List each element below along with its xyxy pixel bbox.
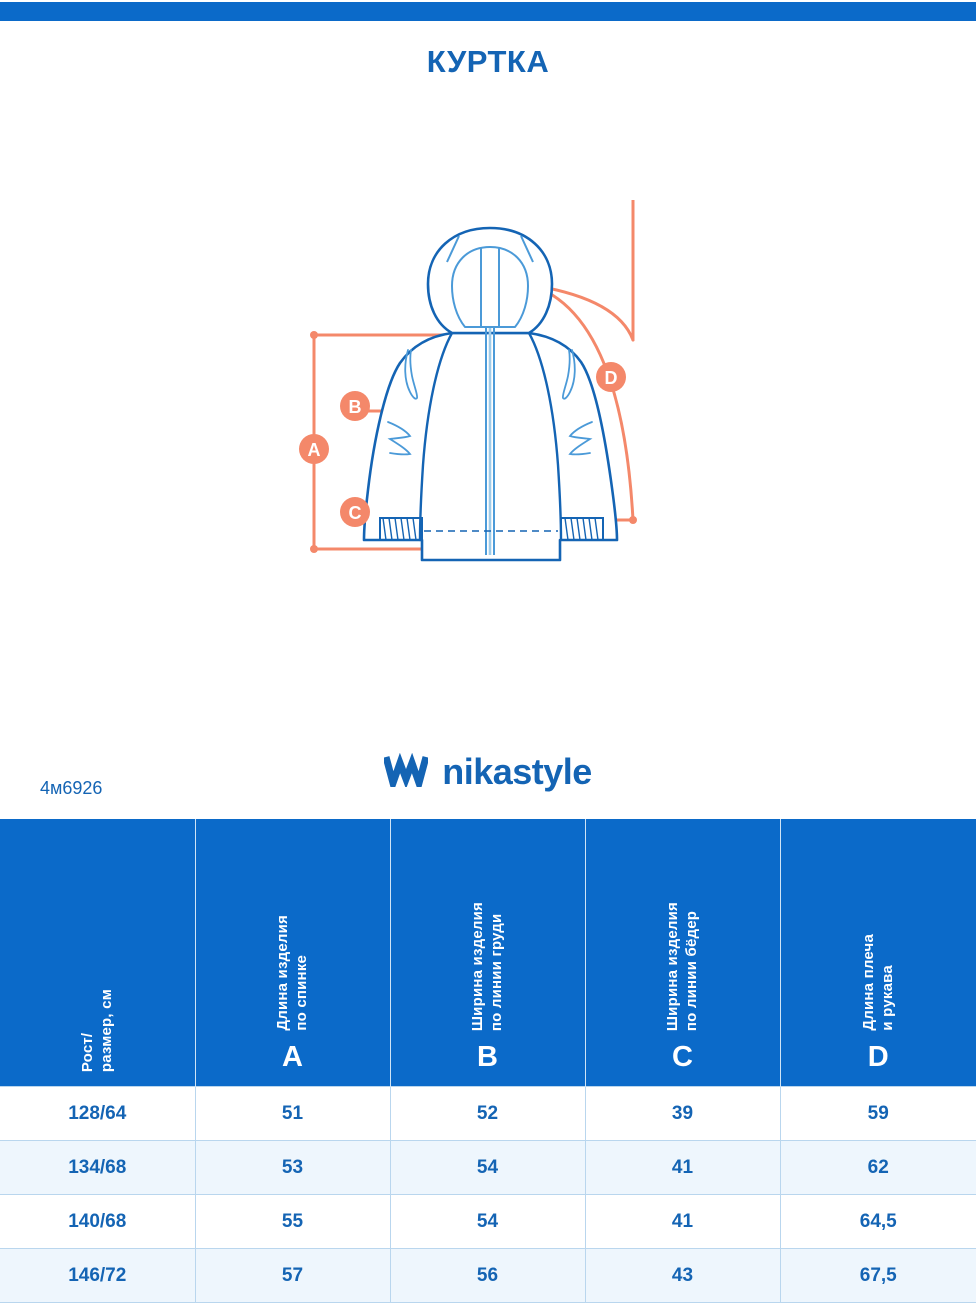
column-header-letter: C [672,1043,693,1072]
cell-size: 128/64 [0,1087,195,1141]
cell-sleeve: 59 [780,1087,976,1141]
cell-chest: 54 [390,1141,585,1195]
column-header-label: Длина изделия по спинке [274,915,312,1031]
marker-c-label: C [349,503,362,523]
marker-b: B [340,391,370,421]
column-header-length-back: Длина изделия по спинке A [195,819,390,1087]
cell-length: 55 [195,1195,390,1249]
brand-row: nikastyle [0,748,976,804]
table-row: 134/68 53 54 41 62 [0,1141,976,1195]
cell-sleeve: 67,5 [780,1249,976,1303]
column-header-hip-width: Ширина изделия по линии бёдер C [585,819,780,1087]
size-table: Рост/ размер, см Длина изделия по спинке… [0,819,976,1303]
cell-length: 51 [195,1087,390,1141]
table-row: 140/68 55 54 41 64,5 [0,1195,976,1249]
cell-chest: 56 [390,1249,585,1303]
endpoint-a-bottom [310,545,318,553]
table-header-row: Рост/ размер, см Длина изделия по спинке… [0,819,976,1087]
column-header-label: Длина плеча и рукава [860,934,898,1031]
table-row: 128/64 51 52 39 59 [0,1087,976,1141]
cell-hip: 39 [585,1087,780,1141]
brand-name: nikastyle [442,754,592,790]
column-header-letter: B [477,1043,498,1072]
cell-hip: 43 [585,1249,780,1303]
column-header-chest-width: Ширина изделия по линии груди B [390,819,585,1087]
article-number: 4м6926 [40,778,102,799]
endpoint-a-top [310,331,318,339]
jacket-hood [428,228,552,333]
column-header-label: Ширина изделия по линии груди [469,902,507,1031]
hood-outer [428,228,552,333]
endpoint-d-bottom [629,516,637,524]
column-header-label: Ширина изделия по линии бёдер [664,902,702,1031]
cell-hip: 41 [585,1141,780,1195]
cell-length: 53 [195,1141,390,1195]
cell-hip: 41 [585,1195,780,1249]
cell-sleeve: 64,5 [780,1195,976,1249]
column-header-letter: A [282,1043,303,1072]
page-title: КУРТКА [0,44,976,80]
wave-mark-icon [384,753,428,792]
column-header-size: Рост/ размер, см [0,819,195,1087]
marker-d: D [596,362,626,392]
brand-logo: nikastyle [0,748,976,796]
marker-a-label: A [308,440,321,460]
cell-size: 134/68 [0,1141,195,1195]
column-header-sleeve-length: Длина плеча и рукава D [780,819,976,1087]
header-bar [0,2,976,21]
table-row: 146/72 57 56 43 67,5 [0,1249,976,1303]
cell-chest: 54 [390,1195,585,1249]
cell-sleeve: 62 [780,1141,976,1195]
column-header-label: Рост/ размер, см [79,989,117,1072]
column-header-letter: D [868,1043,889,1072]
marker-d-label: D [605,368,618,388]
cell-size: 146/72 [0,1249,195,1303]
marker-b-label: B [349,397,362,417]
marker-a: A [299,434,329,464]
cell-size: 140/68 [0,1195,195,1249]
marker-c: C [340,497,370,527]
cell-chest: 52 [390,1087,585,1141]
cell-length: 57 [195,1249,390,1303]
jacket-illustration: A B C D [0,200,976,620]
